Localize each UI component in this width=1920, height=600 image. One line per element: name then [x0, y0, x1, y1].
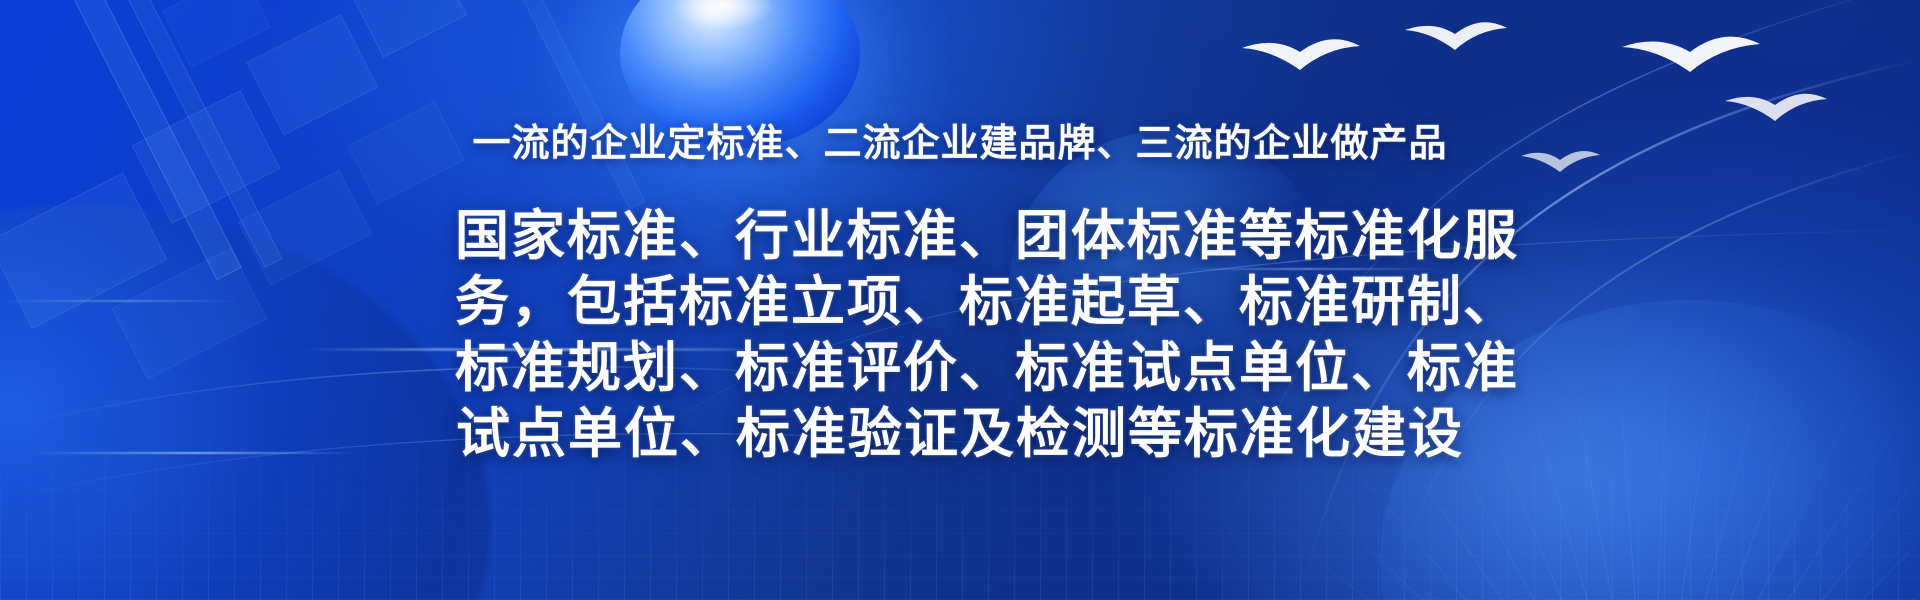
banner-headline: 国家标准、行业标准、团体标准等标准化服 务，包括标准立项、标准起草、标准研制、 …: [455, 203, 1465, 467]
headline-line-3: 标准规划、标准评价、标准试点单位、标准: [455, 335, 1465, 401]
headline-line-1: 国家标准、行业标准、团体标准等标准化服: [455, 203, 1465, 269]
hero-banner: 一流的企业定标准、二流企业建品牌、三流的企业做产品 国家标准、行业标准、团体标准…: [0, 0, 1920, 600]
banner-content: 一流的企业定标准、二流企业建品牌、三流的企业做产品 国家标准、行业标准、团体标准…: [0, 0, 1920, 600]
headline-line-4: 试点单位、标准验证及检测等标准化建设: [455, 401, 1465, 467]
banner-tagline: 一流的企业定标准、二流企业建品牌、三流的企业做产品: [472, 112, 1447, 167]
headline-line-2: 务，包括标准立项、标准起草、标准研制、: [455, 269, 1465, 335]
